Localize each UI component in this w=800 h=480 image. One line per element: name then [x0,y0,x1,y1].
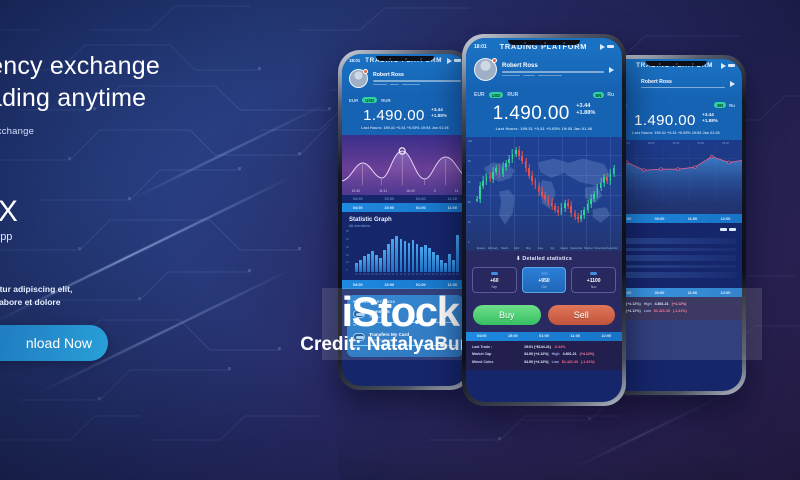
stat-card-sep[interactable]: +60 Sep [472,267,517,293]
cell-extra: (+4.12%) [580,352,595,356]
time-tab[interactable]: 04:00 [342,203,374,212]
candle [508,137,510,251]
bar [412,240,415,272]
currency-rur[interactable]: RUR [381,98,391,103]
candle [495,137,497,251]
payment-row-transfers-my-card[interactable]: Transfers My Card Transfer to my card [353,332,457,342]
user-name: Robert Ross [641,79,725,85]
phone-left-screen: 18:01 TRADING PLATFORM Robert Ross EUR U… [342,54,468,386]
x-tick: 26 [456,273,459,276]
statistic-graph-subtitle: All mentions: [342,223,468,230]
list-item[interactable] [616,255,736,261]
stat-card-okt[interactable]: +950 Okt [522,267,567,293]
bar [359,260,362,273]
candle [492,137,494,251]
cell-key: Mined Coins [472,360,521,364]
bar-chart: 50403020100 [342,230,468,272]
table-row: Mined Coins 34.00 (+4.12%) Low $1.421.33… [472,358,616,365]
bar [432,252,435,272]
bar [371,251,374,272]
chip-icon [491,272,498,275]
canvas: urrency exchange , trading anytime ons f… [0,0,800,480]
x-tick: 06 [375,273,378,276]
tick: 11:11 [379,189,387,193]
candle [518,137,520,251]
currency-rur[interactable]: RUR [507,92,518,98]
x-tick: 13 [404,273,407,276]
month-tick: November [594,247,606,250]
x-tick: 20 [432,273,435,276]
price-block: 1.490.00 +3.44 +1.88% Last Hours: 199.31… [466,102,622,137]
x-tick: 07 [379,273,382,276]
candle [567,137,569,251]
table-row: Last Trade : 19:01 (*$144.41) -0.44% [472,344,616,351]
month-tick: April [511,247,523,250]
candle [505,137,507,251]
price-deltas: +3.44 +1.88% [431,107,447,118]
price-block: 1.490.00 +3.44 +1.88% Last Hours: 199.31… [342,106,468,135]
candle [577,137,579,251]
uiux-subtitle: Mobile App [0,231,258,243]
hero-subline: ons for exchange [0,126,258,137]
candle [551,137,553,251]
time-tab[interactable]: 11:00 [676,288,709,297]
bar [452,260,455,273]
time-range-selector[interactable]: 15:00 00:00 11:00 12:00 [610,214,742,223]
time-range-selector-2[interactable]: 15:00 00:00 11:00 12:00 [610,288,742,297]
phone-right-screen: 18:01 TRADING PLATFORM Robert Ross RUR E… [610,59,742,391]
menu-icon[interactable] [720,228,727,231]
cell-key: Market Cap [472,352,521,356]
time-tab[interactable]: 04:00 [342,280,374,289]
candle [535,137,537,251]
currency-usd[interactable]: USD [362,97,377,103]
cell-value: 19:01 (*$144.41) [524,345,551,349]
stat-card-nov[interactable]: +1100 Nov [571,267,616,293]
payment-settings-header: PAYMENT SETTINGS [353,300,457,304]
time-tab[interactable]: 12:00 [709,214,742,223]
candle [515,137,517,251]
bar [404,241,407,272]
stat-value: +950 [526,278,563,284]
bar [420,247,423,272]
lorem-line-2: didunt ut labore et dolore [0,296,258,309]
month-tick: August [558,247,570,250]
bar [395,236,398,272]
cell-extra: (-1.41%) [673,309,687,313]
tick: 16:43 [406,189,415,193]
time-tab[interactable]: 11:00 [676,214,709,223]
line-area-chart: 01.00 02.00 03.00 04.00 05.00 [610,140,742,214]
profile-divider [502,71,604,72]
candle [597,137,599,251]
candlestick-x-axis: JanuaryFebruaryMarchAprilMayJuneJulyAugu… [475,247,618,250]
payment-slider-value: 80 [353,347,457,350]
last-hours: Last Hours: 199.31 +0.31 +0.05% 19:53 Ja… [474,126,614,131]
candle [538,137,540,251]
uiux-title: I/UX [0,195,258,229]
status-icons [447,58,461,64]
month-tick: July [546,247,558,250]
profile-meta [373,84,461,85]
cell-label: Low [552,360,559,364]
time-tab[interactable]: 00:00 [643,214,676,223]
section-header: ph [610,223,742,234]
candle [544,137,546,251]
stat-value: +1100 [575,278,612,284]
hero-copy: urrency exchange , trading anytime ons f… [0,50,258,309]
candle [525,137,527,251]
phone-right: 18:01 TRADING PLATFORM Robert Ross RUR E… [606,55,746,395]
bar [440,260,443,273]
time-tab[interactable]: 15:00 [497,332,528,341]
candle [528,137,530,251]
notch [376,56,434,61]
y-tick: 0 [346,269,349,272]
notification-badge [363,69,368,74]
candle [521,137,523,251]
time-tab[interactable]: 15:00 [374,203,406,212]
candle [479,137,481,251]
price-deltas: +3.44 +1.88% [576,103,595,117]
candlestick-chart: 100806040200 JanuaryFebruaryMarchAprilMa… [466,137,622,251]
x-tick: 24 [448,273,451,276]
status-time: 18:01 [474,44,487,50]
cell-extra: (+4.12%) [672,302,687,306]
bar [379,258,382,272]
currency-eur[interactable]: EUR [474,92,485,98]
time-tab[interactable]: 01:00 [405,203,437,212]
x-tick: 18 [424,273,427,276]
candle [541,137,543,251]
user-name: Robert Ross [502,63,604,69]
area-chart-ticks: 12:40 11:11 16:43 0 14 [342,188,468,195]
tick: 14 [455,189,459,193]
table-row: 34.00 (+4.12%) High 4.801.21 (+4.12%) [616,300,736,307]
stat-value: +60 [476,278,513,284]
battery-icon [607,45,614,48]
toggle-icon[interactable] [353,333,365,341]
tick: 15:00 [374,197,406,201]
candle [603,137,605,251]
candle [482,137,484,251]
tick: 12:40 [352,189,361,193]
month-tick: March [499,247,511,250]
bar [436,255,439,272]
language-selector[interactable]: EN Ru [714,102,735,108]
profile-divider [641,87,725,88]
month-tick: September [570,247,582,250]
cell-value2: 4.801.21 [563,352,577,356]
bar [363,256,366,272]
currency-selector[interactable]: EUR USD RUR EN Ru [466,88,622,102]
time-range-selector-2[interactable]: 04:00 15:00 01:00 11:00 [342,280,468,289]
list-item[interactable] [616,248,736,251]
y-tick: 10 [346,261,349,264]
candle [570,137,572,251]
x-tick: 12 [400,273,403,276]
x-tick: 08 [383,273,386,276]
delta-percent: +1.88% [702,118,718,124]
phone-center-screen: 18:01 TRADING PLATFORM Robert Ross EUR U… [466,38,622,402]
statistic-graph-title: Statistic Graph [342,212,468,223]
time-tab[interactable]: 04:00 [466,332,497,341]
cell-value: 34.00 (+4.12%) [524,360,549,364]
candle [502,137,504,251]
y-tick: 50 [346,230,349,233]
time-tab[interactable]: 00:00 [643,288,676,297]
candle [590,137,592,251]
signal-icon [447,58,452,64]
avatar [474,58,497,81]
detailed-statistics: ⬇ Detailed statistics +60 Sep +950 Okt [466,251,622,299]
month-tick: June [534,247,546,250]
status-icons [600,44,614,50]
phone-left: 18:01 TRADING PLATFORM Robert Ross EUR U… [338,50,472,390]
x-tick: 19 [428,273,431,276]
cell-label: Low [644,309,651,313]
buy-button[interactable]: Buy [473,305,541,325]
avatar [349,69,368,88]
price-value: 1.490.00 [634,112,696,129]
notch [508,40,580,45]
time-tab[interactable]: 01:00 [528,332,559,341]
payment-settings-card: PAYMENT SETTINGS Transfers Cash transfer… [347,295,463,357]
candle [512,137,514,251]
cell-value2: $1.421.33 [654,309,670,313]
bar [391,239,394,272]
payment-slider-value: 50 [353,324,457,327]
cell-label: High [644,302,652,306]
footer-table: 34.00 (+4.12%) High 4.801.21 (+4.12%) 34… [610,297,742,319]
cell-value2: 4.801.21 [655,302,669,306]
table-row: 34.00 (+4.12%) Low $1.421.33 (-1.41%) [616,307,736,314]
bar [400,239,403,273]
bar [375,255,378,272]
payment-slider-transfers[interactable] [353,322,457,324]
candle [564,137,566,251]
header-icon[interactable] [730,81,735,87]
currency-eur[interactable]: EUR [349,98,358,103]
stat-month: Okt [526,285,563,289]
delta-absolute: +3.44 [576,103,595,110]
x-tick: 23 [444,273,447,276]
bar [456,235,459,272]
language-selector[interactable]: EN Ru [593,92,615,98]
payment-row-name: Transfers My Card [369,332,457,337]
download-now-button[interactable]: nload Now [0,325,108,361]
candlestick-series [466,137,622,251]
lang-label[interactable]: Ru [607,92,614,98]
candle [531,137,533,251]
bar-chart-y-axis: 50403020100 [346,230,349,272]
time-tab[interactable]: 01:00 [405,280,437,289]
profile-header[interactable]: Robert Ross [610,70,742,99]
x-tick: 02 [359,273,362,276]
cell-key: Last Trade : [472,345,521,349]
bar [444,263,447,272]
price-value: 1.490.00 [363,107,425,124]
status-icons [721,63,735,69]
time-ticks-dim: 04:00 15:00 01:00 11:00 [342,195,468,203]
time-tab[interactable]: 11:00 [560,332,591,341]
candle [548,137,550,251]
bar [387,244,390,272]
table-row: Market Cap 34.00 (+4.12%) High 4.801.21 … [472,351,616,358]
time-range-selector[interactable]: 04:00 15:00 01:00 11:00 22:00 [466,332,622,341]
status-time: 18:01 [349,58,360,63]
toggle-icon[interactable] [353,310,365,318]
header-send-icon[interactable] [609,67,614,73]
candle [583,137,585,251]
profile-header[interactable]: Robert Ross [342,65,468,94]
candle [613,137,615,251]
x-tick: 04 [367,273,370,276]
price-block: 1.490.00 +3.44 +1.88% Last Hours: 199.31… [610,111,742,140]
footer-table: Last Trade : 19:01 (*$144.41) -0.44% Mar… [466,341,622,371]
send-icon[interactable] [609,67,614,73]
last-hours: Last Hours: 199.31 +0.31 +0.05% 19:53 Ja… [617,131,735,135]
cell-value: 34.00 (+4.12%) [524,352,549,356]
delta-percent: +1.88% [576,110,595,117]
profile-divider [373,80,461,81]
area-chart: 12:40 11:11 16:43 0 14 [342,135,468,195]
candle [574,137,576,251]
candle [476,137,478,251]
cell-extra: (-1.41%) [581,360,595,364]
x-tick: 16 [416,273,419,276]
tick: 04:00 [342,197,374,201]
delta-percent: +1.88% [431,113,447,119]
x-tick: 01 [355,273,358,276]
month-tick: October [582,247,594,250]
payment-row-name: Transfers [369,309,457,314]
x-tick: 21 [436,273,439,276]
trade-buttons: Buy Sell [466,299,622,332]
candle [580,137,582,251]
payment-slider-my-card[interactable] [353,345,457,347]
candle [610,137,612,251]
bar [367,254,370,272]
cell-extra: -0.44% [554,345,565,349]
list-item[interactable] [616,265,736,268]
candle [561,137,563,251]
currency-selector[interactable]: EUR USD RUR [342,94,468,106]
headline-line-1: urrency exchange [0,50,258,82]
currency-usd[interactable]: USD [489,92,504,98]
x-tick: 14 [408,273,411,276]
candle [587,137,589,251]
payment-row-desc: Cash transfers [369,315,457,319]
x-tick: 10 [391,273,394,276]
price-deltas: +3.44 +1.88% [702,112,718,123]
stat-month: Sep [476,285,513,289]
time-range-selector[interactable]: 04:00 15:00 01:00 11:00 [342,203,468,212]
candle [600,137,602,251]
notification-badge [492,58,497,63]
x-tick: 05 [371,273,374,276]
candle [489,137,491,251]
bar [428,248,431,272]
signal-icon [600,44,605,50]
payment-row-transfers[interactable]: Transfers Cash transfers [353,309,457,319]
bar [383,250,386,272]
candle [593,137,595,251]
month-tick: May [523,247,535,250]
lang-label[interactable]: Ru [729,103,735,108]
phone-center: 18:01 TRADING PLATFORM Robert Ross EUR U… [462,34,626,406]
time-tab[interactable]: 12:00 [709,288,742,297]
bar [355,263,358,272]
x-tick: 11 [395,273,398,276]
bar-chart-x-axis: 0102030405060708091011121314151617181920… [342,272,468,276]
currency-selector[interactable]: RUR EN Ru [610,99,742,111]
tick: 01:00 [405,197,437,201]
x-tick: 15 [412,273,415,276]
time-tab[interactable]: 15:00 [374,280,406,289]
send-icon[interactable] [730,81,735,87]
headline-line-2: , trading anytime [0,82,258,114]
lang-pill[interactable]: EN [714,102,726,108]
candle [499,137,501,251]
detailed-statistics-title: ⬇ Detailed statistics [472,256,616,262]
user-name: Robert Ross [373,72,461,78]
bar [424,245,427,272]
lorem-line-1: , consectetur adipiscing elit, [0,283,258,296]
line-chart-top-ticks: 01.00 02.00 03.00 04.00 05.00 [610,140,742,145]
more-icon[interactable] [729,228,736,231]
signal-icon [721,63,726,69]
chip-icon [541,272,548,275]
x-tick: 17 [420,273,423,276]
bar [448,254,451,272]
sell-button[interactable]: Sell [548,305,616,325]
cell-value2: $1.421.33 [562,360,578,364]
time-tab[interactable]: 22:00 [591,332,622,341]
payment-row-desc: Transfer to my card [369,338,457,342]
detailed-statistics-label: Detailed statistics [522,256,572,262]
lang-pill[interactable]: EN [593,92,605,98]
bar [416,244,419,273]
section-icons[interactable] [720,228,736,231]
profile-header[interactable]: Robert Ross [466,53,622,88]
cell-label: High [552,352,560,356]
x-tick: 22 [440,273,443,276]
candle [554,137,556,251]
battery-icon [728,64,735,67]
month-tick: December [606,247,618,250]
list-item[interactable] [616,272,736,278]
stat-cards: +60 Sep +950 Okt +1100 Nov [472,267,616,293]
last-hours: Last Hours: 199.31 +0.31 +0.05% 19:53 Ja… [349,126,461,130]
candle [606,137,608,251]
stat-month: Nov [575,285,612,289]
list-item[interactable] [616,238,736,244]
tick: 0 [434,189,436,193]
y-tick: 30 [346,246,349,249]
y-tick: 20 [346,254,349,257]
profile-meta [502,75,604,76]
x-tick: 03 [363,273,366,276]
battery-icon [454,59,461,62]
month-tick: February [487,247,499,250]
y-tick: 40 [346,238,349,241]
price-value: 1.490.00 [493,103,570,125]
bar [408,243,411,272]
candle [557,137,559,251]
candle [486,137,488,251]
month-tick: January [475,247,487,250]
